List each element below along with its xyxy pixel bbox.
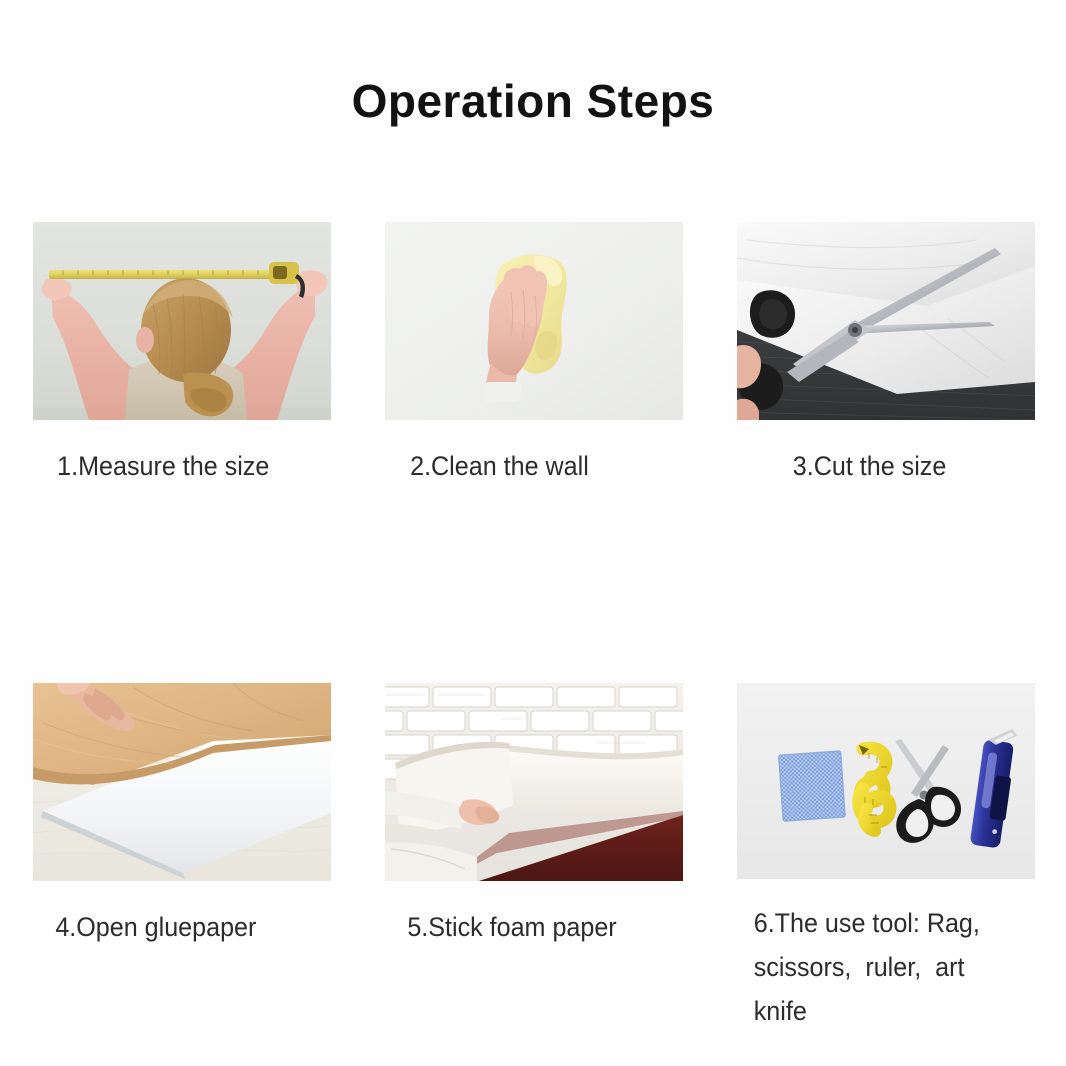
clean-the-wall-illustration [385,222,683,420]
step-card-6: 6.The use tool: Rag, scissors, ruler, ar… [737,683,1035,1033]
stick-foam-paper-illustration [385,683,683,881]
photo-clean-the-wall [385,222,683,420]
photo-cut-the-size [737,222,1035,420]
step-card-5: 5.Stick foam paper [385,683,683,1033]
steps-row-bottom: 4.Open gluepaper [33,683,1035,1033]
steps-grid: 1.Measure the size [33,222,1035,1033]
measure-the-size-illustration [33,222,331,420]
page-title: Operation Steps [0,74,1066,128]
photo-open-gluepaper [33,683,331,881]
step-card-3: 3.Cut the size [737,222,1035,488]
step-caption-6: 6.The use tool: Rag, scissors, ruler, ar… [737,901,1014,1033]
photo-stick-foam-paper [385,683,683,881]
step-caption-5: 5.Stick foam paper [385,905,662,949]
steps-row-top: 1.Measure the size [33,222,1035,488]
step-caption-3: 3.Cut the size [737,444,1014,488]
step-caption-4: 4.Open gluepaper [33,905,310,949]
step-card-2: 2.Clean the wall [385,222,683,488]
cut-the-size-illustration [737,222,1035,420]
open-gluepaper-illustration [33,683,331,881]
photo-the-use-tool [737,683,1035,879]
infographic-page: Operation Steps [0,0,1066,1066]
photo-measure-the-size [33,222,331,420]
step-card-1: 1.Measure the size [33,222,331,488]
step-caption-2: 2.Clean the wall [385,444,662,488]
step-caption-1: 1.Measure the size [33,444,310,488]
step-card-4: 4.Open gluepaper [33,683,331,1033]
the-use-tool-illustration [737,683,1035,879]
